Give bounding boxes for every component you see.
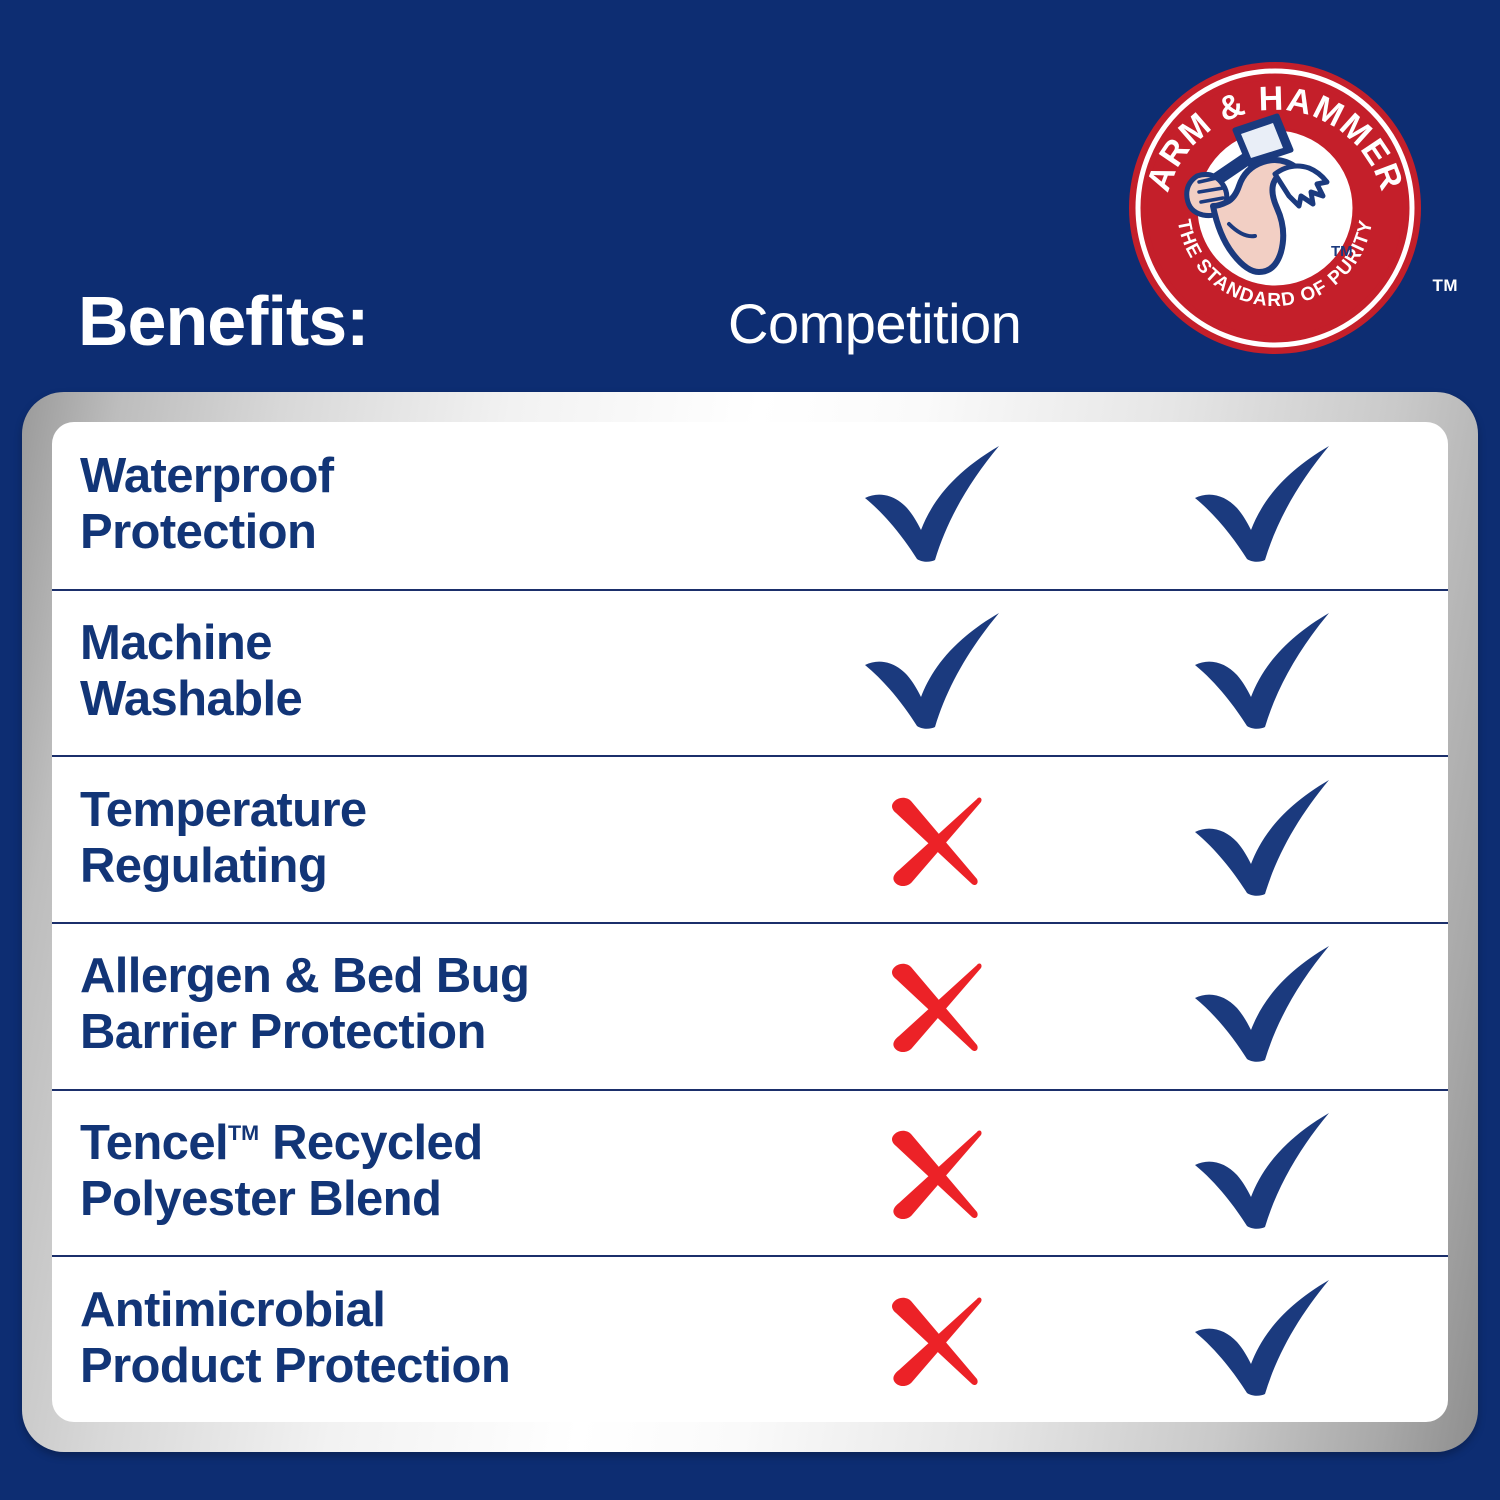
benefit-label-line1-rest: Recycled	[259, 1116, 482, 1170]
benefit-label-line2: Protection	[80, 505, 316, 559]
check-icon	[1181, 1111, 1349, 1233]
competition-mark-cell	[770, 787, 1100, 891]
competition-mark-cell	[770, 1287, 1100, 1391]
svg-text:TM: TM	[1331, 243, 1353, 260]
page-title: Benefits:	[78, 286, 368, 356]
armhammer-mark-cell	[1100, 1111, 1430, 1233]
table-row: Allergen & Bed Bug Barrier Protection	[52, 922, 1448, 1089]
cross-icon	[880, 1120, 990, 1224]
armhammer-mark-cell	[1100, 444, 1430, 566]
benefit-label: Antimicrobial Product Protection	[80, 1283, 770, 1395]
competition-mark-cell	[770, 611, 1100, 733]
benefit-label-line2: Polyester Blend	[80, 1172, 441, 1226]
armhammer-mark-cell	[1100, 778, 1430, 900]
competition-column-header: Competition	[728, 296, 1021, 352]
benefit-label-line1: Machine	[80, 616, 272, 670]
table-row: Temperature Regulating	[52, 755, 1448, 922]
trademark-symbol: TM	[228, 1120, 259, 1145]
cross-icon	[880, 953, 990, 1057]
check-icon	[1181, 444, 1349, 566]
benefit-label-line1: Temperature	[80, 783, 367, 837]
comparison-card: Waterproof Protection Machine	[22, 392, 1478, 1452]
armhammer-mark-cell	[1100, 611, 1430, 733]
armhammer-mark-cell	[1100, 1278, 1430, 1400]
check-icon	[1181, 611, 1349, 733]
benefit-label: Allergen & Bed Bug Barrier Protection	[80, 949, 770, 1061]
benefit-label-line2: Barrier Protection	[80, 1005, 486, 1059]
check-icon	[851, 444, 1019, 566]
logo-svg: ARM & HAMMER THE STANDARD OF PURITY	[1125, 58, 1425, 358]
benefit-label-line2: Product Protection	[80, 1339, 510, 1393]
comparison-card-inner: Waterproof Protection Machine	[52, 422, 1448, 1422]
table-row: Waterproof Protection	[52, 422, 1448, 589]
benefit-label-line2: Regulating	[80, 839, 327, 893]
benefit-label-line1: Allergen & Bed Bug	[80, 949, 529, 1003]
armhammer-mark-cell	[1100, 944, 1430, 1066]
check-icon	[851, 611, 1019, 733]
benefit-label: Waterproof Protection	[80, 449, 770, 561]
table-row: TencelTM Recycled Polyester Blend	[52, 1089, 1448, 1256]
benefits-comparison-table: Waterproof Protection Machine	[52, 422, 1448, 1422]
check-icon	[1181, 944, 1349, 1066]
benefit-label: Temperature Regulating	[80, 783, 770, 895]
logo-trademark-symbol: TM	[1432, 276, 1458, 296]
cross-icon	[880, 787, 990, 891]
check-icon	[1181, 1278, 1349, 1400]
page-header: Benefits: Competition ARM & HAMMER THE S…	[0, 0, 1500, 390]
arm-and-hammer-logo: ARM & HAMMER THE STANDARD OF PURITY	[1125, 58, 1425, 358]
table-row: Machine Washable	[52, 589, 1448, 756]
competition-mark-cell	[770, 444, 1100, 566]
table-row: Antimicrobial Product Protection	[52, 1255, 1448, 1422]
competition-mark-cell	[770, 1120, 1100, 1224]
cross-icon	[880, 1287, 990, 1391]
benefit-label-line1: Waterproof	[80, 449, 334, 503]
competition-mark-cell	[770, 953, 1100, 1057]
check-icon	[1181, 778, 1349, 900]
benefit-label: Machine Washable	[80, 616, 770, 728]
benefit-label-line2: Washable	[80, 672, 302, 726]
benefit-label: TencelTM Recycled Polyester Blend	[80, 1116, 770, 1228]
benefit-label-line1: Antimicrobial	[80, 1283, 385, 1337]
benefit-label-line1: Tencel	[80, 1116, 228, 1170]
